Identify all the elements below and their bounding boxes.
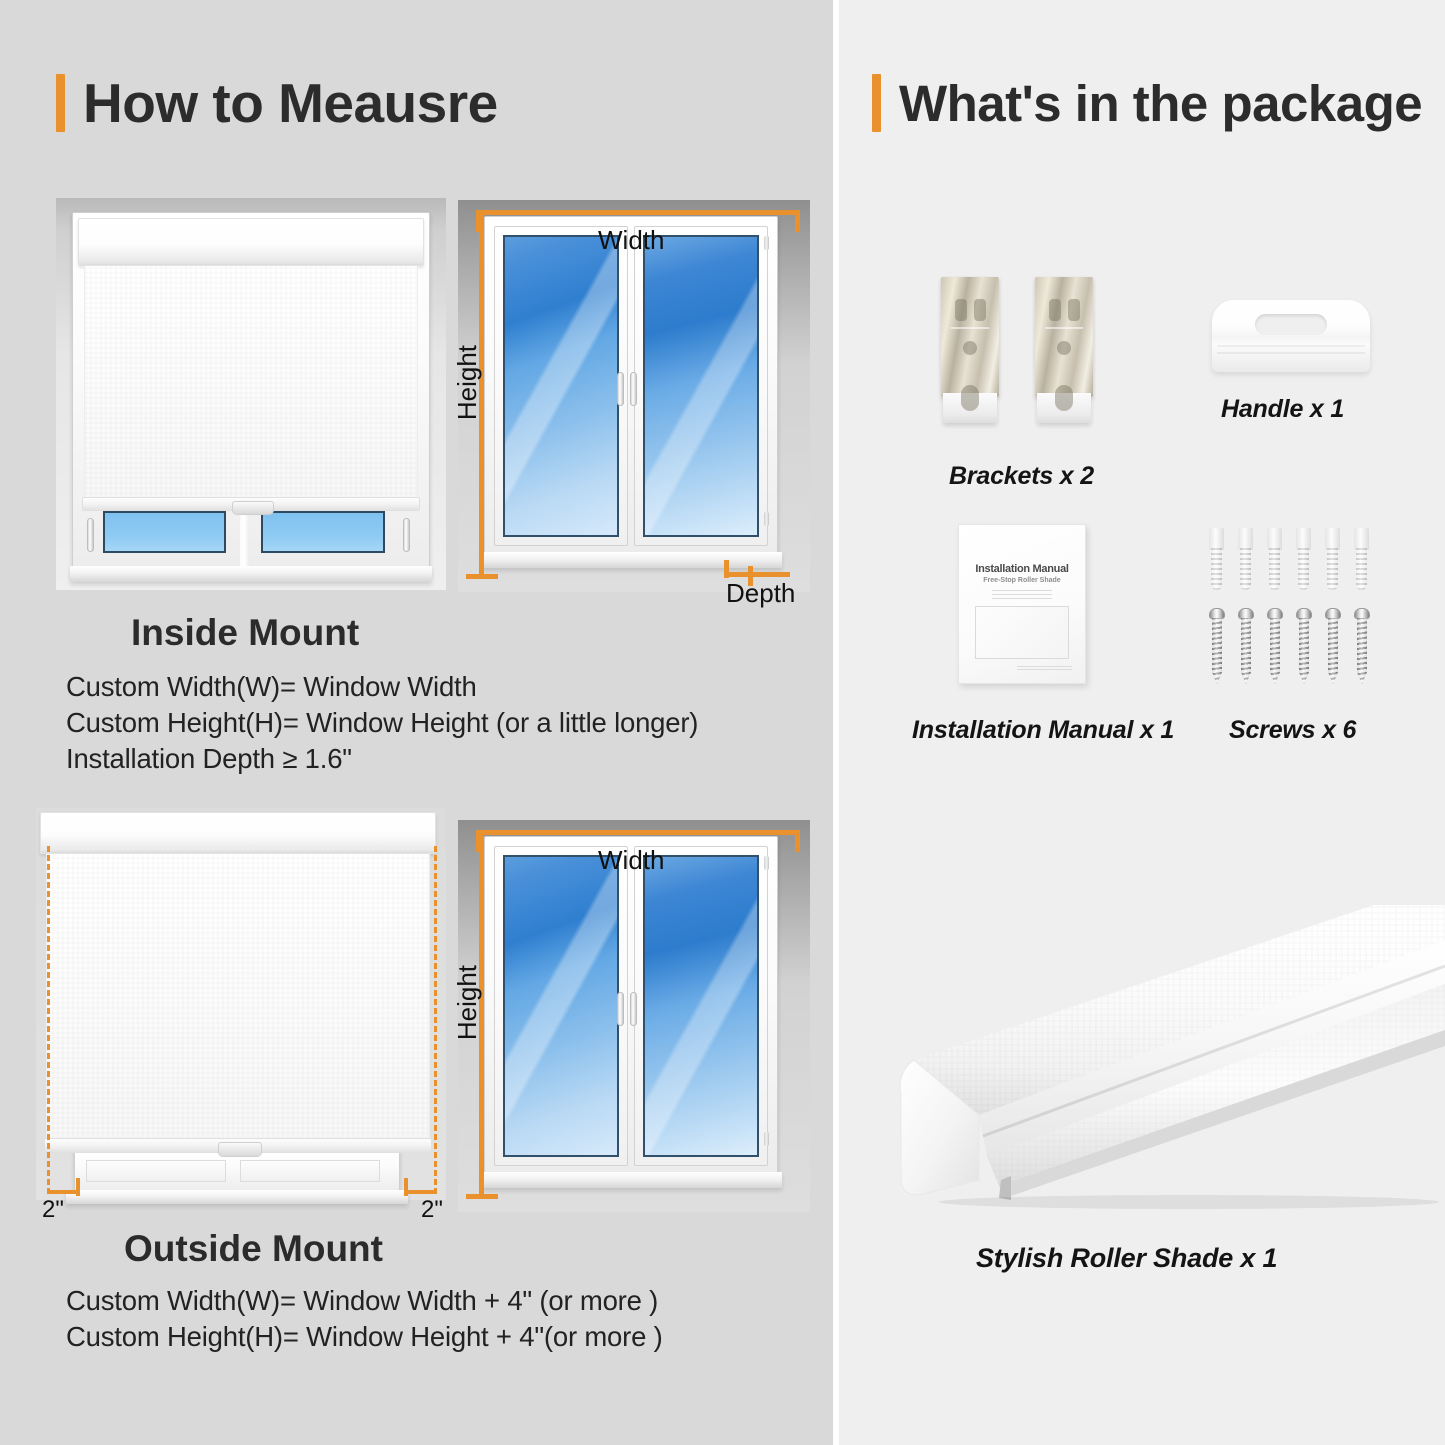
outside-mount-window-diagram	[458, 820, 810, 1212]
wall-anchor-item	[1208, 528, 1225, 590]
window-sash-left	[494, 226, 628, 546]
bracket-body	[1035, 277, 1093, 397]
how-to-measure-title: How to Meausre	[83, 76, 498, 131]
window-handle-right-icon	[403, 518, 410, 552]
overhang-tick-right	[404, 1178, 408, 1196]
bracket-slot	[1068, 299, 1080, 321]
outside-spec-height: Custom Height(H)= Window Height + 4"(or …	[66, 1321, 663, 1353]
height-guide-tick-bottom	[466, 1194, 498, 1199]
screws-label: Screws x 6	[1229, 716, 1356, 745]
handle-label: Handle x 1	[1221, 395, 1344, 424]
bracket-slot	[955, 299, 967, 321]
width-guide-tick-right	[795, 210, 800, 232]
handle-grip-cutout	[1255, 314, 1328, 334]
width-guide-line	[476, 210, 800, 215]
hinge-bottom-icon	[764, 512, 769, 526]
bracket-ridge	[951, 327, 989, 329]
bracket-hole	[963, 341, 977, 355]
how-to-measure-panel: How to Meausre	[0, 0, 833, 1445]
handle-seam	[1217, 345, 1366, 347]
handle-image	[1212, 300, 1370, 372]
package-heading: What's in the package	[872, 74, 1422, 132]
inside-spec-height: Custom Height(H)= Window Height (or a li…	[66, 707, 698, 739]
how-to-measure-heading: How to Meausre	[56, 74, 498, 132]
manual-image: Installation Manual Free-Stop Roller Sha…	[958, 524, 1086, 684]
overhang-label-right: 2"	[421, 1196, 443, 1224]
wall-anchor-item	[1324, 528, 1341, 590]
manual-cover-subtitle: Free-Stop Roller Shade	[969, 577, 1075, 584]
overhang-arrow-right	[404, 1190, 436, 1194]
bracket-item	[1035, 277, 1093, 397]
manual-cover-title: Installation Manual	[969, 563, 1075, 575]
width-label: Width	[598, 845, 664, 876]
screw-item	[1325, 608, 1341, 684]
overhang-guide-left	[47, 846, 50, 1194]
shade-pull-handle	[218, 1142, 262, 1157]
window-sash-right	[634, 846, 768, 1166]
height-guide-tick-bottom	[466, 574, 498, 579]
overhang-tick-left	[76, 1178, 80, 1196]
accent-bar-icon	[872, 74, 881, 132]
width-label: Width	[598, 225, 664, 256]
hinge-top-icon	[764, 856, 769, 870]
inside-spec-depth: Installation Depth ≥ 1.6"	[66, 743, 352, 775]
inside-spec-width: Custom Width(W)= Window Width	[66, 671, 477, 703]
wall-anchor-item	[1353, 528, 1370, 590]
shade-headrail	[40, 812, 436, 854]
inside-mount-window-diagram	[458, 200, 810, 592]
roller-shade-label: Stylish Roller Shade x 1	[976, 1243, 1277, 1274]
depth-guide-line	[724, 572, 790, 577]
overhang-label-left: 2"	[42, 1196, 64, 1224]
window-sill	[482, 552, 782, 568]
bracket-slot	[1049, 299, 1061, 321]
outside-spec-width: Custom Width(W)= Window Width + 4" (or m…	[66, 1285, 658, 1317]
hinge-bottom-icon	[764, 1132, 769, 1146]
window-pane-right	[643, 235, 759, 537]
height-label: Height	[452, 345, 483, 420]
window-handle-right-icon	[630, 992, 637, 1026]
shade-headrail	[78, 218, 424, 266]
bracket-mount-hole	[961, 385, 979, 411]
screw-item	[1238, 608, 1254, 684]
window-pane-right	[240, 1160, 380, 1182]
manual-cover-figure	[975, 606, 1068, 660]
manual-cover-lines	[992, 590, 1052, 601]
outside-mount-shade-illustration	[36, 808, 446, 1200]
window-sash-left	[494, 846, 628, 1166]
package-contents-panel: What's in the package Brackets x 2 Handl	[839, 0, 1445, 1445]
inside-mount-title: Inside Mount	[131, 612, 359, 654]
window-pane-left	[503, 235, 619, 537]
window-sill	[70, 566, 432, 582]
wall-anchor-item	[1295, 528, 1312, 590]
bracket-ridge	[1045, 327, 1083, 329]
bracket-item	[941, 277, 999, 397]
window-handle-left-icon	[617, 992, 624, 1026]
shade-pull-handle	[232, 501, 274, 515]
depth-label: Depth	[726, 578, 795, 609]
window-sash-right	[634, 226, 768, 546]
brackets-label: Brackets x 2	[949, 462, 1094, 491]
shade-drop-shadow	[939, 1195, 1439, 1209]
window-handle-left-icon	[87, 518, 94, 552]
bracket-body	[941, 277, 999, 397]
window-pane-right	[261, 511, 385, 553]
package-title: What's in the package	[899, 78, 1422, 129]
window-pane-right	[643, 855, 759, 1157]
width-guide-line	[476, 830, 800, 835]
height-label: Height	[452, 965, 483, 1040]
screw-item	[1267, 608, 1283, 684]
roller-shade-product-image	[859, 880, 1445, 1210]
accent-bar-icon	[56, 74, 65, 132]
handle-seam	[1217, 352, 1366, 354]
bracket-hole	[1057, 341, 1071, 355]
shade-fabric	[46, 854, 430, 1144]
screw-item	[1209, 608, 1225, 684]
window-handle-left-icon	[617, 372, 624, 406]
shade-fabric	[84, 266, 418, 504]
window-sill	[482, 1172, 782, 1188]
inside-mount-shade-illustration	[56, 198, 446, 590]
screw-item	[1296, 608, 1312, 684]
outside-mount-title: Outside Mount	[124, 1228, 383, 1270]
screws-image	[1206, 528, 1386, 692]
overhang-guide-right	[434, 846, 437, 1194]
hinge-top-icon	[764, 236, 769, 250]
window-pane-left	[103, 511, 226, 553]
brackets-image	[937, 205, 1127, 395]
overhang-arrow-left	[47, 1190, 79, 1194]
wall-anchor-item	[1237, 528, 1254, 590]
window-pane-left	[86, 1160, 226, 1182]
width-guide-tick-right	[795, 830, 800, 852]
depth-guide-tick-left	[724, 560, 729, 578]
window-pane-left	[503, 855, 619, 1157]
bracket-mount-hole	[1055, 385, 1073, 411]
window-handle-right-icon	[630, 372, 637, 406]
manual-label: Installation Manual x 1	[912, 716, 1174, 745]
manual-cover-footer	[1017, 666, 1072, 672]
screw-item	[1354, 608, 1370, 684]
wall-anchor-item	[1266, 528, 1283, 590]
window-sill	[66, 1190, 408, 1204]
bracket-slot	[974, 299, 986, 321]
